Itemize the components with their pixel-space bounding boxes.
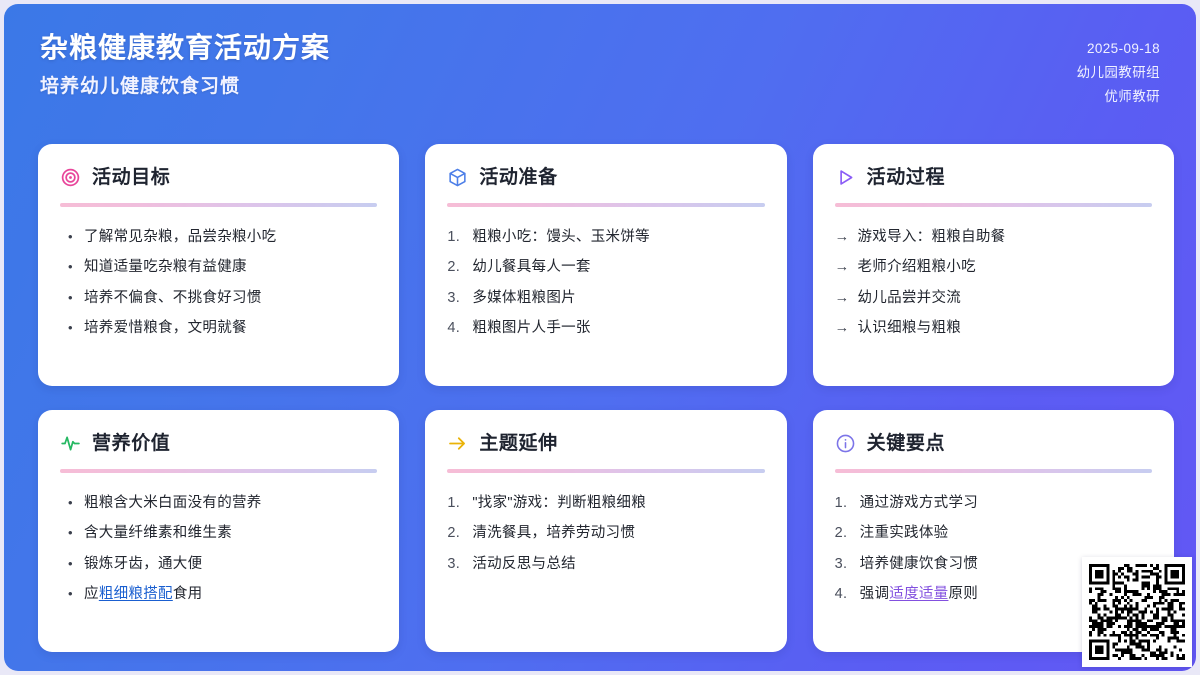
list-marker: 1. [447, 228, 464, 248]
list-item: •培养不偏食、不挑食好习惯 [60, 283, 377, 314]
card-list: →游戏导入：粗粮自助餐→老师介绍粗粮小吃→幼儿品尝并交流→认识细粮与粗粮 [835, 222, 1152, 344]
list-marker: 2. [447, 524, 464, 544]
card: 营养价值•粗粮含大米白面没有的营养•含大量纤维素和维生素•锻炼牙齿，通大便•应粗… [38, 410, 399, 652]
inline-link[interactable]: 适度适量 [889, 586, 948, 602]
card: 活动目标•了解常见杂粮，品尝杂粮小吃•知道适量吃杂粮有益健康•培养不偏食、不挑食… [38, 144, 399, 386]
list-item-text: 应粗细粮搭配食用 [84, 585, 377, 605]
card-header: 营养价值 [60, 428, 377, 458]
list-item: •粗粮含大米白面没有的营养 [60, 488, 377, 519]
list-item-text: 幼儿品尝并交流 [857, 289, 1152, 309]
list-marker: • [68, 319, 76, 337]
list-item-text: 认识细粮与粗粮 [857, 319, 1152, 339]
card-header: 活动目标 [60, 162, 377, 192]
list-item: →游戏导入：粗粮自助餐 [835, 222, 1152, 253]
page-title: 杂粮健康教育活动方案 [40, 30, 330, 66]
list-marker: → [835, 258, 850, 278]
list-item: 3.活动反思与总结 [447, 549, 764, 580]
list-item-text: 含大量纤维素和维生素 [84, 524, 377, 544]
card-list: •粗粮含大米白面没有的营养•含大量纤维素和维生素•锻炼牙齿，通大便•应粗细粮搭配… [60, 488, 377, 610]
slide-root: 杂粮健康教育活动方案 培养幼儿健康饮食习惯 2025-09-18 幼儿园教研组 … [4, 4, 1196, 671]
card-title: 主题延伸 [479, 434, 557, 453]
list-item: •知道适量吃杂粮有益健康 [60, 253, 377, 284]
header-meta: 2025-09-18 幼儿园教研组 优师教研 [1077, 30, 1160, 107]
list-item: 1.通过游戏方式学习 [835, 488, 1152, 519]
item-prefix: 应 [84, 586, 99, 602]
list-item: 1.粗粮小吃：馒头、玉米饼等 [447, 222, 764, 253]
list-item-text: "找家"游戏：判断粗粮细粮 [472, 494, 764, 514]
inline-link[interactable]: 粗细粮搭配 [99, 586, 173, 602]
card-header: 关键要点 [835, 428, 1152, 458]
list-item-text: 通过游戏方式学习 [860, 494, 1152, 514]
list-item: 3.多媒体粗粮图片 [447, 283, 764, 314]
qr-code[interactable] [1082, 557, 1192, 667]
list-item: →幼儿品尝并交流 [835, 283, 1152, 314]
list-item-text: 注重实践体验 [860, 524, 1152, 544]
card-divider [60, 469, 377, 473]
list-marker: • [68, 258, 76, 276]
list-marker: 3. [447, 289, 464, 309]
list-item-text: 粗粮图片人手一张 [472, 319, 764, 339]
list-marker: 2. [835, 524, 852, 544]
header-brand: 优师教研 [1104, 88, 1160, 106]
list-marker: 4. [447, 319, 464, 339]
list-marker: • [68, 555, 76, 573]
qr-code-image [1089, 564, 1185, 660]
card-list: 1."找家"游戏：判断粗粮细粮2.清洗餐具，培养劳动习惯3.活动反思与总结 [447, 488, 764, 580]
list-marker: • [68, 289, 76, 307]
list-marker: • [68, 585, 76, 603]
card-divider [60, 203, 377, 207]
list-item: •锻炼牙齿，通大便 [60, 549, 377, 580]
list-marker: 3. [447, 555, 464, 575]
list-marker: 1. [835, 494, 852, 514]
list-item-text: 活动反思与总结 [472, 555, 764, 575]
header-date: 2025-09-18 [1087, 40, 1160, 58]
list-item: 2.清洗餐具，培养劳动习惯 [447, 519, 764, 550]
list-marker: • [68, 494, 76, 512]
list-item: •培养爱惜粮食，文明就餐 [60, 314, 377, 345]
list-item: →认识细粮与粗粮 [835, 314, 1152, 345]
list-item: 2.幼儿餐具每人一套 [447, 253, 764, 284]
list-item-text: 培养不偏食、不挑食好习惯 [84, 289, 377, 309]
list-item-text: 知道适量吃杂粮有益健康 [84, 258, 377, 278]
activity-pulse-icon [60, 433, 81, 454]
list-item: 2.注重实践体验 [835, 519, 1152, 550]
arrow-right-icon [447, 433, 468, 454]
card-divider [447, 203, 764, 207]
header-left: 杂粮健康教育活动方案 培养幼儿健康饮食习惯 [40, 30, 330, 100]
list-item: •了解常见杂粮，品尝杂粮小吃 [60, 222, 377, 253]
card-title: 关键要点 [867, 434, 945, 453]
list-item-text: 粗粮小吃：馒头、玉米饼等 [472, 228, 764, 248]
card-list: •了解常见杂粮，品尝杂粮小吃•知道适量吃杂粮有益健康•培养不偏食、不挑食好习惯•… [60, 222, 377, 344]
card-title: 活动过程 [867, 168, 945, 187]
slide-header: 杂粮健康教育活动方案 培养幼儿健康饮食习惯 2025-09-18 幼儿园教研组 … [4, 4, 1196, 136]
list-item: →老师介绍粗粮小吃 [835, 253, 1152, 284]
info-circle-icon [835, 433, 856, 454]
list-item-text: 老师介绍粗粮小吃 [857, 258, 1152, 278]
box-icon [447, 167, 468, 188]
card: 活动准备1.粗粮小吃：馒头、玉米饼等2.幼儿餐具每人一套3.多媒体粗粮图片4.粗… [425, 144, 786, 386]
card-list: 1.粗粮小吃：馒头、玉米饼等2.幼儿餐具每人一套3.多媒体粗粮图片4.粗粮图片人… [447, 222, 764, 344]
list-item-text: 清洗餐具，培养劳动习惯 [472, 524, 764, 544]
play-triangle-icon [835, 167, 856, 188]
card-divider [835, 469, 1152, 473]
list-item-text: 粗粮含大米白面没有的营养 [84, 494, 377, 514]
list-marker: 2. [447, 258, 464, 278]
card-title: 活动准备 [479, 168, 557, 187]
card-grid: 活动目标•了解常见杂粮，品尝杂粮小吃•知道适量吃杂粮有益健康•培养不偏食、不挑食… [38, 144, 1174, 652]
item-suffix: 食用 [173, 586, 203, 602]
list-item-text: 多媒体粗粮图片 [472, 289, 764, 309]
card-divider [447, 469, 764, 473]
card-header: 活动过程 [835, 162, 1152, 192]
card-header: 主题延伸 [447, 428, 764, 458]
list-item: •含大量纤维素和维生素 [60, 519, 377, 550]
list-item-text: 幼儿餐具每人一套 [472, 258, 764, 278]
list-marker: 1. [447, 494, 464, 514]
list-item-text: 了解常见杂粮，品尝杂粮小吃 [84, 228, 377, 248]
card: 主题延伸1."找家"游戏：判断粗粮细粮2.清洗餐具，培养劳动习惯3.活动反思与总… [425, 410, 786, 652]
list-item: •应粗细粮搭配食用 [60, 580, 377, 611]
list-marker: • [68, 524, 76, 542]
card-title: 活动目标 [92, 168, 170, 187]
card-header: 活动准备 [447, 162, 764, 192]
card-divider [835, 203, 1152, 207]
list-item-text: 游戏导入：粗粮自助餐 [857, 228, 1152, 248]
card-title: 营养价值 [92, 434, 170, 453]
list-marker: → [835, 289, 850, 309]
list-item-text: 锻炼牙齿，通大便 [84, 555, 377, 575]
list-item: 4.粗粮图片人手一张 [447, 314, 764, 345]
list-marker: 4. [835, 585, 852, 605]
target-icon [60, 167, 81, 188]
list-marker: • [68, 228, 76, 246]
list-marker: → [835, 228, 850, 248]
item-suffix: 原则 [948, 586, 978, 602]
item-prefix: 强调 [860, 586, 890, 602]
list-marker: → [835, 319, 850, 339]
card: 活动过程→游戏导入：粗粮自助餐→老师介绍粗粮小吃→幼儿品尝并交流→认识细粮与粗粮 [813, 144, 1174, 386]
list-item: 1."找家"游戏：判断粗粮细粮 [447, 488, 764, 519]
list-item-text: 培养爱惜粮食，文明就餐 [84, 319, 377, 339]
header-org: 幼儿园教研组 [1077, 64, 1160, 82]
page-subtitle: 培养幼儿健康饮食习惯 [40, 75, 330, 100]
list-marker: 3. [835, 555, 852, 575]
